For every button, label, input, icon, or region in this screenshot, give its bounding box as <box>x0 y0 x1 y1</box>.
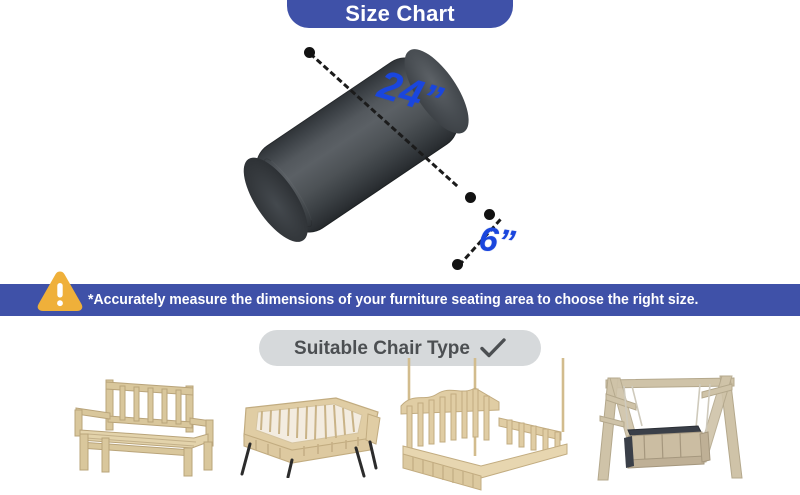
furniture-item-wicker-sofa <box>238 378 383 478</box>
size-chart-page: Size Chart 24” 6” <box>0 0 800 495</box>
product-diagram: 24” 6” <box>0 28 800 278</box>
dimension-diameter-dot-start <box>484 209 495 220</box>
dimension-length-dot-start <box>304 47 315 58</box>
bolster-pillow-image <box>208 0 505 302</box>
dimension-diameter-label: 6” <box>477 222 517 261</box>
furniture-item-a-frame-porch-swing <box>584 364 749 489</box>
suitable-furniture-list <box>0 360 800 495</box>
suitable-chair-type-label: Suitable Chair Type <box>294 339 470 358</box>
check-icon <box>480 338 506 358</box>
dimension-diameter-dot-end <box>452 259 463 270</box>
furniture-item-wooden-bench <box>66 372 216 477</box>
bolster-body <box>239 43 476 248</box>
dimension-length-dot-end <box>465 192 476 203</box>
warning-text: *Accurately measure the dimensions of yo… <box>88 289 767 311</box>
furniture-item-porch-swing-bed <box>395 358 570 493</box>
warning-triangle-icon <box>36 269 84 314</box>
